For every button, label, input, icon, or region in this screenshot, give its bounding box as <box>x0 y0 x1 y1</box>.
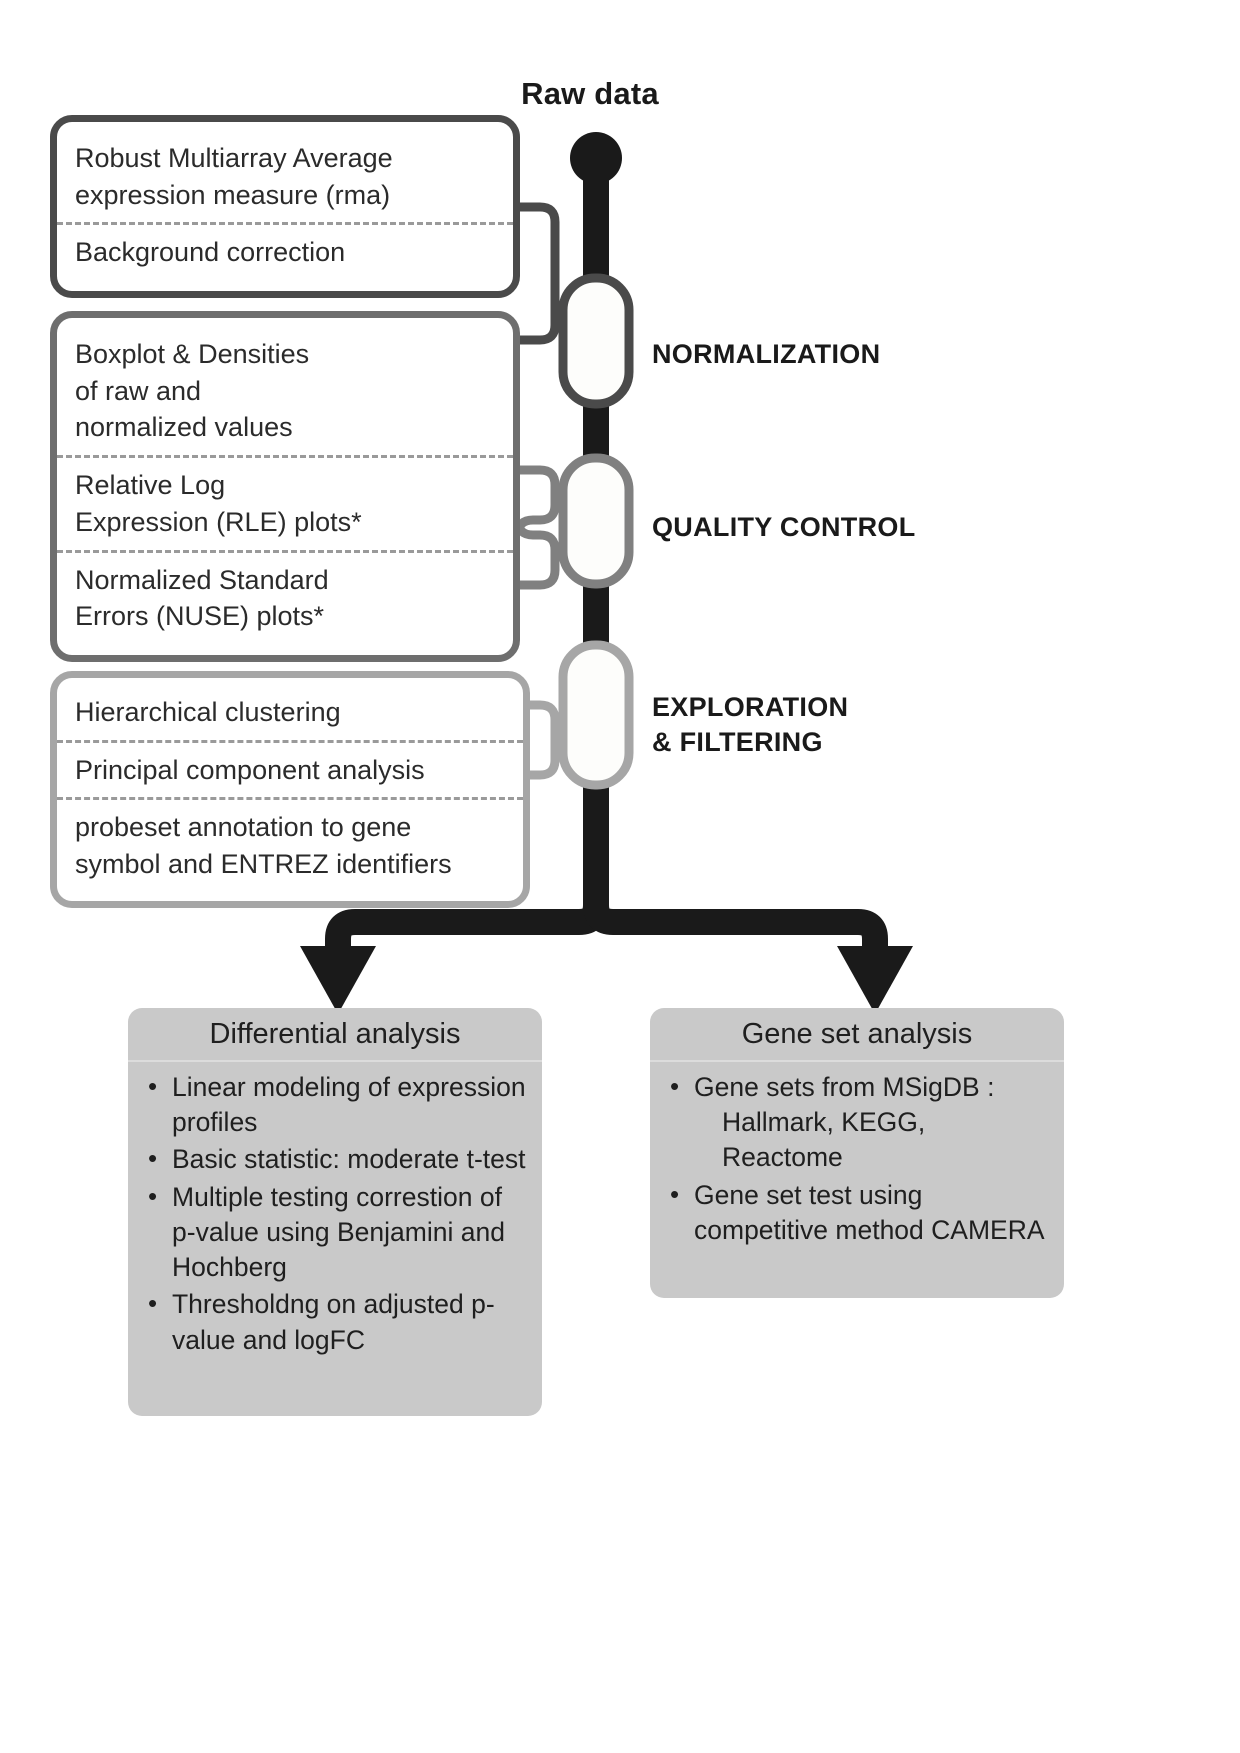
connector-normalization <box>519 207 555 340</box>
branch-right-arrowhead <box>837 946 913 1014</box>
step-segment-rma: Robust Multiarray Average expression mea… <box>57 131 513 222</box>
stage-label-exploration-line2: & FILTERING <box>652 725 848 760</box>
step-box-normalization: Robust Multiarray Average expression mea… <box>50 115 520 298</box>
step-segment-rle-plots: Relative Log Expression (RLE) plots* <box>57 455 513 549</box>
capsule-exploration <box>563 645 629 785</box>
panel-body-differential: Linear modeling of expression profiles B… <box>128 1062 542 1370</box>
list-item: Basic statistic: moderate t-test <box>142 1142 528 1177</box>
stage-label-exploration-line1: EXPLORATION <box>652 690 848 725</box>
branch-left-arrowhead <box>300 946 376 1014</box>
connector-quality-control <box>518 470 555 585</box>
step-segment-boxplot-densities: Boxplot & Densities of raw and normalize… <box>57 327 513 455</box>
capsule-normalization <box>563 278 629 404</box>
panel-body-geneset: Gene sets from MSigDB : Hallmark, KEGG, … <box>650 1062 1064 1260</box>
panel-header-geneset: Gene set analysis <box>650 1008 1064 1062</box>
step-segment-hierarchical-clustering: Hierarchical clustering <box>57 685 523 740</box>
raw-data-node <box>570 132 622 184</box>
list-item: Thresholdng on adjusted p-value and logF… <box>142 1287 528 1357</box>
list-item: Gene sets from MSigDB : Hallmark, KEGG, … <box>664 1070 1050 1176</box>
stage-label-quality-control: QUALITY CONTROL <box>652 510 916 545</box>
step-segment-probeset-annotation: probeset annotation to gene symbol and E… <box>57 797 523 891</box>
list-item: Multiple testing correstion of p-value u… <box>142 1180 528 1286</box>
capsule-quality-control <box>563 458 629 584</box>
page-title: Raw data <box>440 76 740 112</box>
step-segment-nuse-plots: Normalized Standard Errors (NUSE) plots* <box>57 550 513 644</box>
connector-exploration <box>528 705 555 775</box>
panel-differential-analysis: Differential analysis Linear modeling of… <box>128 1008 542 1416</box>
branch-right-line <box>596 890 875 962</box>
step-box-quality-control: Boxplot & Densities of raw and normalize… <box>50 311 520 662</box>
stage-label-exploration: EXPLORATION & FILTERING <box>652 690 848 759</box>
list-item: Gene set test using competitive method C… <box>664 1178 1050 1248</box>
workflow-diagram: Raw data Robust Multiarray Average expre… <box>0 0 1240 1753</box>
list-item: Linear modeling of expression profiles <box>142 1070 528 1140</box>
step-box-exploration: Hierarchical clustering Principal compon… <box>50 671 530 908</box>
panel-gene-set-analysis: Gene set analysis Gene sets from MSigDB … <box>650 1008 1064 1298</box>
step-segment-background-correction: Background correction <box>57 222 513 280</box>
step-segment-pca: Principal component analysis <box>57 740 523 798</box>
stage-label-normalization: NORMALIZATION <box>652 337 880 372</box>
panel-header-differential: Differential analysis <box>128 1008 542 1062</box>
